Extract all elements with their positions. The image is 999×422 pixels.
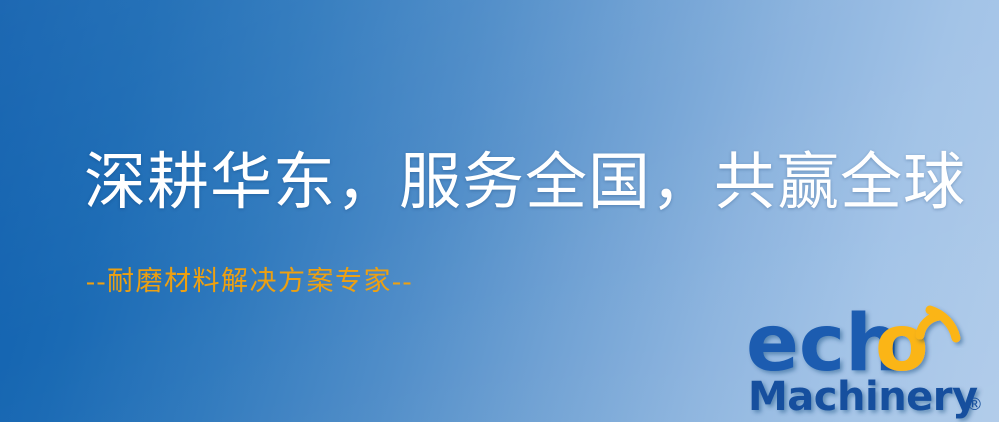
banner-headline: 深耕华东，服务全国，共赢全球 — [84, 152, 966, 214]
logo-machinery-text: Machinery — [748, 374, 978, 420]
banner-subtitle: --耐磨材料解决方案专家-- — [86, 268, 413, 295]
hero-banner: 深耕华东，服务全国，共赢全球 --耐磨材料解决方案专家-- ech o Mach… — [0, 0, 999, 422]
logo-registered-mark: ® — [966, 395, 983, 415]
echo-machinery-logo[interactable]: ech o Machinery ® — [744, 298, 996, 422]
